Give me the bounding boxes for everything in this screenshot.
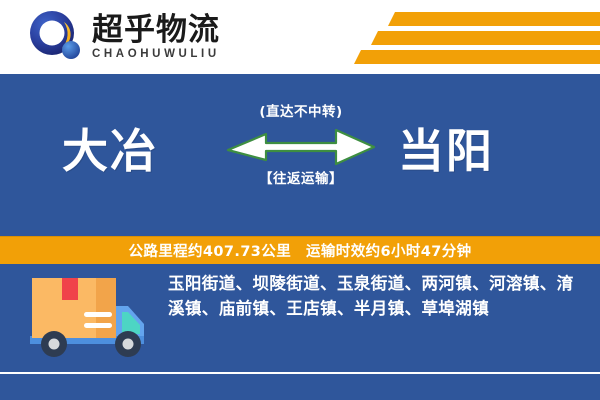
company-name-en: CHAOHUWULIU: [92, 48, 220, 60]
poster-header: 超乎物流 CHAOHUWULIU: [0, 0, 600, 74]
bottom-divider: [0, 372, 600, 374]
poster-body: 大冶 (直达不中转) 【往返运输】 当阳 公路里程约407.73公里 运输时效约…: [0, 74, 600, 400]
route-arrow-block: (直达不中转) 【往返运输】: [222, 106, 380, 186]
company-name-cn: 超乎物流: [92, 14, 220, 47]
route-section: 大冶 (直达不中转) 【往返运输】 当阳: [0, 110, 600, 235]
logistics-q-circle-logo-icon: [26, 8, 88, 66]
brand-wordmark: 超乎物流 CHAOHUWULIU: [92, 14, 220, 61]
coverage-section: 玉阳街道、坝陵街道、玉泉街道、两河镇、河溶镇、淯溪镇、庙前镇、王店镇、半月镇、草…: [0, 264, 600, 374]
distance-duration-band: 公路里程约407.73公里 运输时效约6小时47分钟: [0, 236, 600, 264]
brand-logo: 超乎物流 CHAOHUWULIU: [26, 8, 220, 66]
delivery-truck-icon: [24, 272, 152, 364]
direct-service-note: (直达不中转): [222, 106, 380, 120]
distance-duration-text: 公路里程约407.73公里 运输时效约6小时47分钟: [128, 240, 471, 261]
origin-city: 大冶: [62, 128, 158, 174]
double-headed-arrow-icon: [226, 126, 376, 166]
covered-towns-list: 玉阳街道、坝陵街道、玉泉街道、两河镇、河溶镇、淯溪镇、庙前镇、王店镇、半月镇、草…: [168, 272, 580, 322]
round-trip-note: 【往返运输】: [222, 173, 380, 187]
logistics-route-poster: 超乎物流 CHAOHUWULIU 大冶 (直达不中转) 【往返运输】: [0, 0, 600, 400]
destination-city: 当阳: [398, 128, 494, 174]
three-slanted-stripes-icon: [340, 10, 600, 68]
